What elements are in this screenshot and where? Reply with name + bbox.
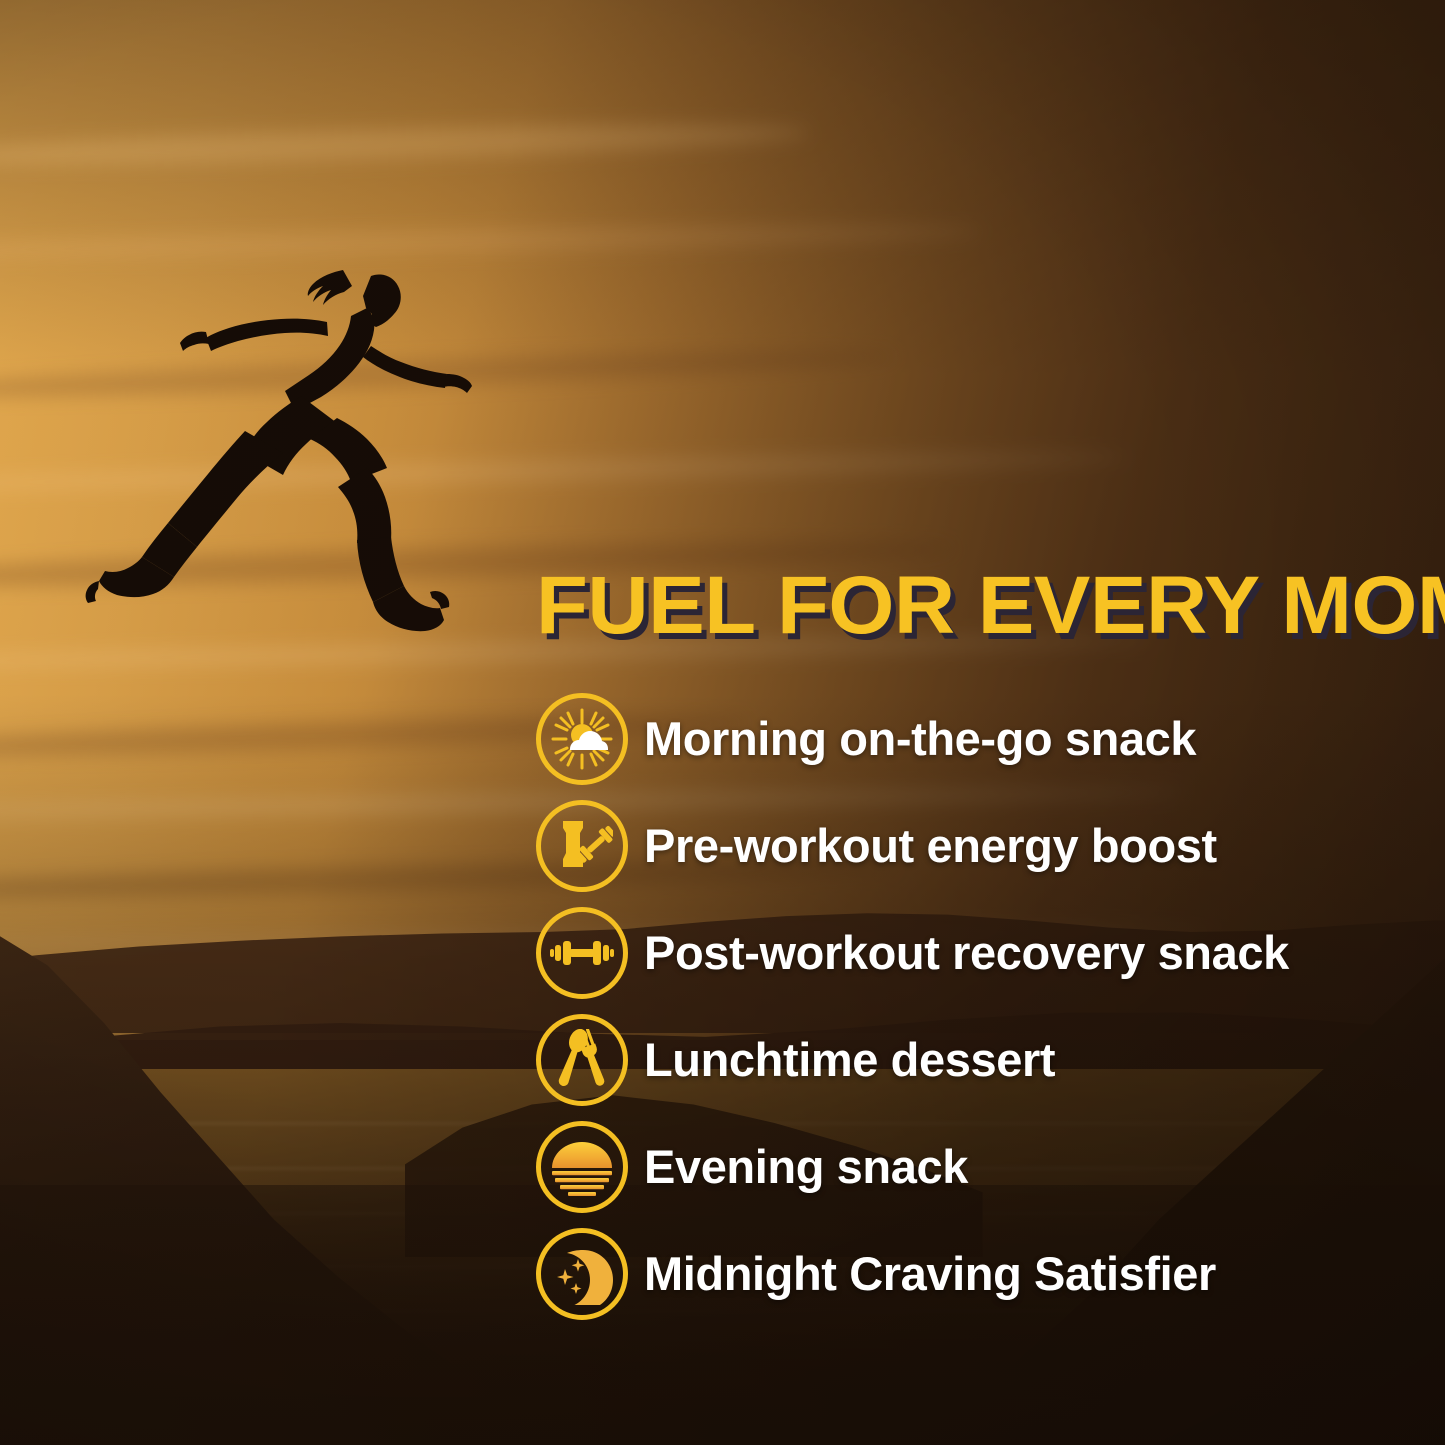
sun-cloud-icon: [536, 693, 628, 785]
moon-stars-icon: [536, 1228, 628, 1320]
list-item: Post-workout recovery snack: [536, 899, 1416, 1006]
list-item: Evening snack: [536, 1113, 1416, 1220]
sunset-icon: [536, 1121, 628, 1213]
list-item-label: Post-workout recovery snack: [644, 925, 1289, 980]
benefit-list: Morning on-the-go snack: [536, 685, 1416, 1327]
dumbbell-icon: [536, 907, 628, 999]
promotional-poster: FUEL FOR EVERY MOMENT: [0, 0, 1445, 1445]
list-item-label: Evening snack: [644, 1139, 968, 1194]
list-item: Midnight Craving Satisfier: [536, 1220, 1416, 1327]
page-title: FUEL FOR EVERY MOMENT: [536, 565, 1445, 647]
list-item-label: Midnight Craving Satisfier: [644, 1246, 1216, 1301]
list-item: Lunchtime dessert: [536, 1006, 1416, 1113]
shaker-dumbbell-icon: [536, 800, 628, 892]
spoon-fork-icon: [536, 1014, 628, 1106]
list-item: Morning on-the-go snack: [536, 685, 1416, 792]
list-item-label: Morning on-the-go snack: [644, 711, 1196, 766]
list-item: Pre-workout energy boost: [536, 792, 1416, 899]
content-block: FUEL FOR EVERY MOMENT: [536, 565, 1416, 1327]
list-item-label: Pre-workout energy boost: [644, 818, 1217, 873]
list-item-label: Lunchtime dessert: [644, 1032, 1055, 1087]
